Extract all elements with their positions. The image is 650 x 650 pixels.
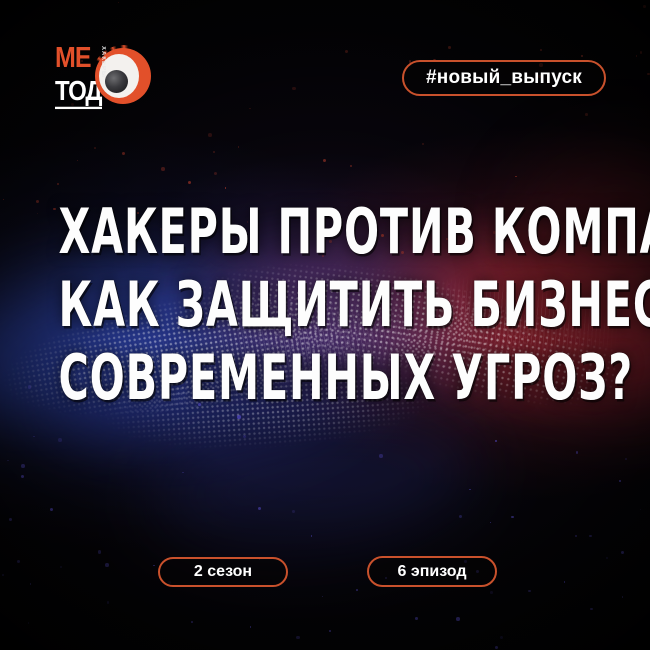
headline-line-3: СОВРЕМЕННЫХ УГРОЗ? — [59, 348, 592, 409]
logo-vertical-text: ХАКЕРЫ — [96, 46, 106, 108]
poster-canvas: МЕ ТОД ХАКЕРЫ #новый_выпуск ХАКЕРЫ ПРОТИ… — [0, 0, 650, 650]
hashtag-badge-label: #новый_выпуск — [426, 67, 582, 89]
headline-line-1: ХАКЕРЫ ПРОТИВ КОМПАНИЙ: — [59, 203, 592, 264]
glow-blob-deep-blue — [144, 403, 486, 567]
season-badge-label: 2 сезон — [194, 563, 252, 581]
page-title: ХАКЕРЫ ПРОТИВ КОМПАНИЙ: КАК ЗАЩИТИТЬ БИЗ… — [0, 206, 650, 407]
episode-badge-label: 6 эпизод — [398, 563, 467, 581]
eye-iris — [105, 70, 128, 93]
headline-line-2: КАК ЗАЩИТИТЬ БИЗНЕС ОТ — [59, 276, 592, 337]
metod-logo[interactable]: МЕ ТОД ХАКЕРЫ — [55, 44, 150, 110]
episode-badge[interactable]: 6 эпизод — [367, 556, 497, 587]
hashtag-badge[interactable]: #новый_выпуск — [402, 60, 606, 96]
season-badge[interactable]: 2 сезон — [158, 557, 288, 587]
